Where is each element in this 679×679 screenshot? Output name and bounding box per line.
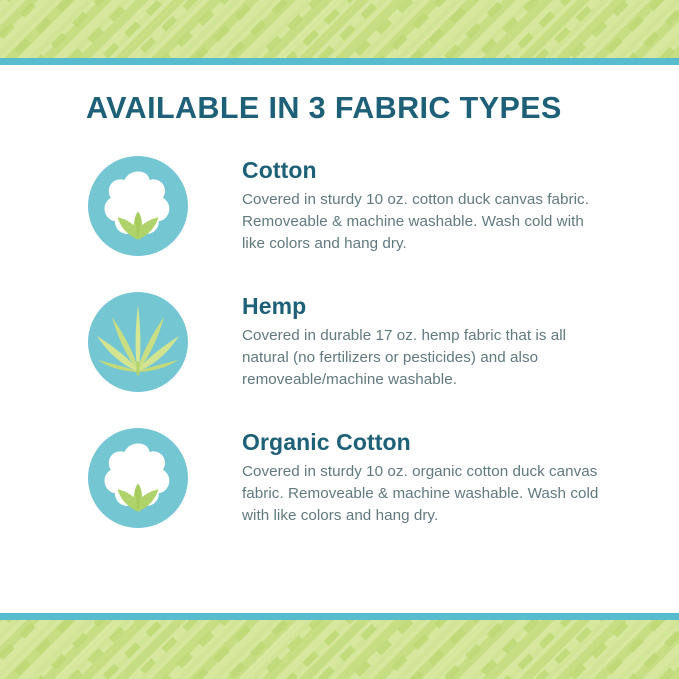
cotton-boll-icon bbox=[86, 426, 190, 530]
fabric-name-cotton: Cotton bbox=[242, 158, 621, 182]
top-band-dash-texture bbox=[0, 0, 679, 58]
hemp-leaf-icon bbox=[86, 290, 190, 394]
cotton-icon-cell bbox=[86, 152, 196, 258]
bottom-decorative-band bbox=[0, 613, 679, 679]
main-content: AVAILABLE IN 3 FABRIC TYPES bbox=[0, 65, 679, 613]
fabric-types-infographic: AVAILABLE IN 3 FABRIC TYPES bbox=[0, 0, 679, 679]
hemp-text-cell: Hemp Covered in durable 17 oz. hemp fabr… bbox=[196, 288, 621, 391]
organic-cotton-text-cell: Organic Cotton Covered in sturdy 10 oz. … bbox=[196, 424, 621, 527]
bottom-band-dash-texture bbox=[0, 620, 679, 679]
organic-cotton-icon-cell bbox=[86, 424, 196, 530]
fabric-description-organic-cotton: Covered in sturdy 10 oz. organic cotton … bbox=[242, 461, 610, 527]
fabric-name-hemp: Hemp bbox=[242, 294, 621, 318]
fabric-item-cotton: Cotton Covered in sturdy 10 oz. cotton d… bbox=[86, 152, 621, 258]
hemp-icon-cell bbox=[86, 288, 196, 394]
fabric-item-hemp: Hemp Covered in durable 17 oz. hemp fabr… bbox=[86, 288, 621, 394]
fabric-description-hemp: Covered in durable 17 oz. hemp fabric th… bbox=[242, 325, 610, 391]
fabric-item-organic-cotton: Organic Cotton Covered in sturdy 10 oz. … bbox=[86, 424, 621, 530]
top-decorative-band bbox=[0, 0, 679, 65]
cotton-text-cell: Cotton Covered in sturdy 10 oz. cotton d… bbox=[196, 152, 621, 255]
bottom-band-divider-rule bbox=[0, 613, 679, 620]
fabric-list: Cotton Covered in sturdy 10 oz. cotton d… bbox=[86, 152, 621, 530]
fabric-description-cotton: Covered in sturdy 10 oz. cotton duck can… bbox=[242, 189, 610, 255]
cotton-boll-icon bbox=[86, 154, 190, 258]
top-band-divider-rule bbox=[0, 58, 679, 65]
fabric-name-organic-cotton: Organic Cotton bbox=[242, 430, 621, 454]
page-title: AVAILABLE IN 3 FABRIC TYPES bbox=[86, 65, 621, 126]
